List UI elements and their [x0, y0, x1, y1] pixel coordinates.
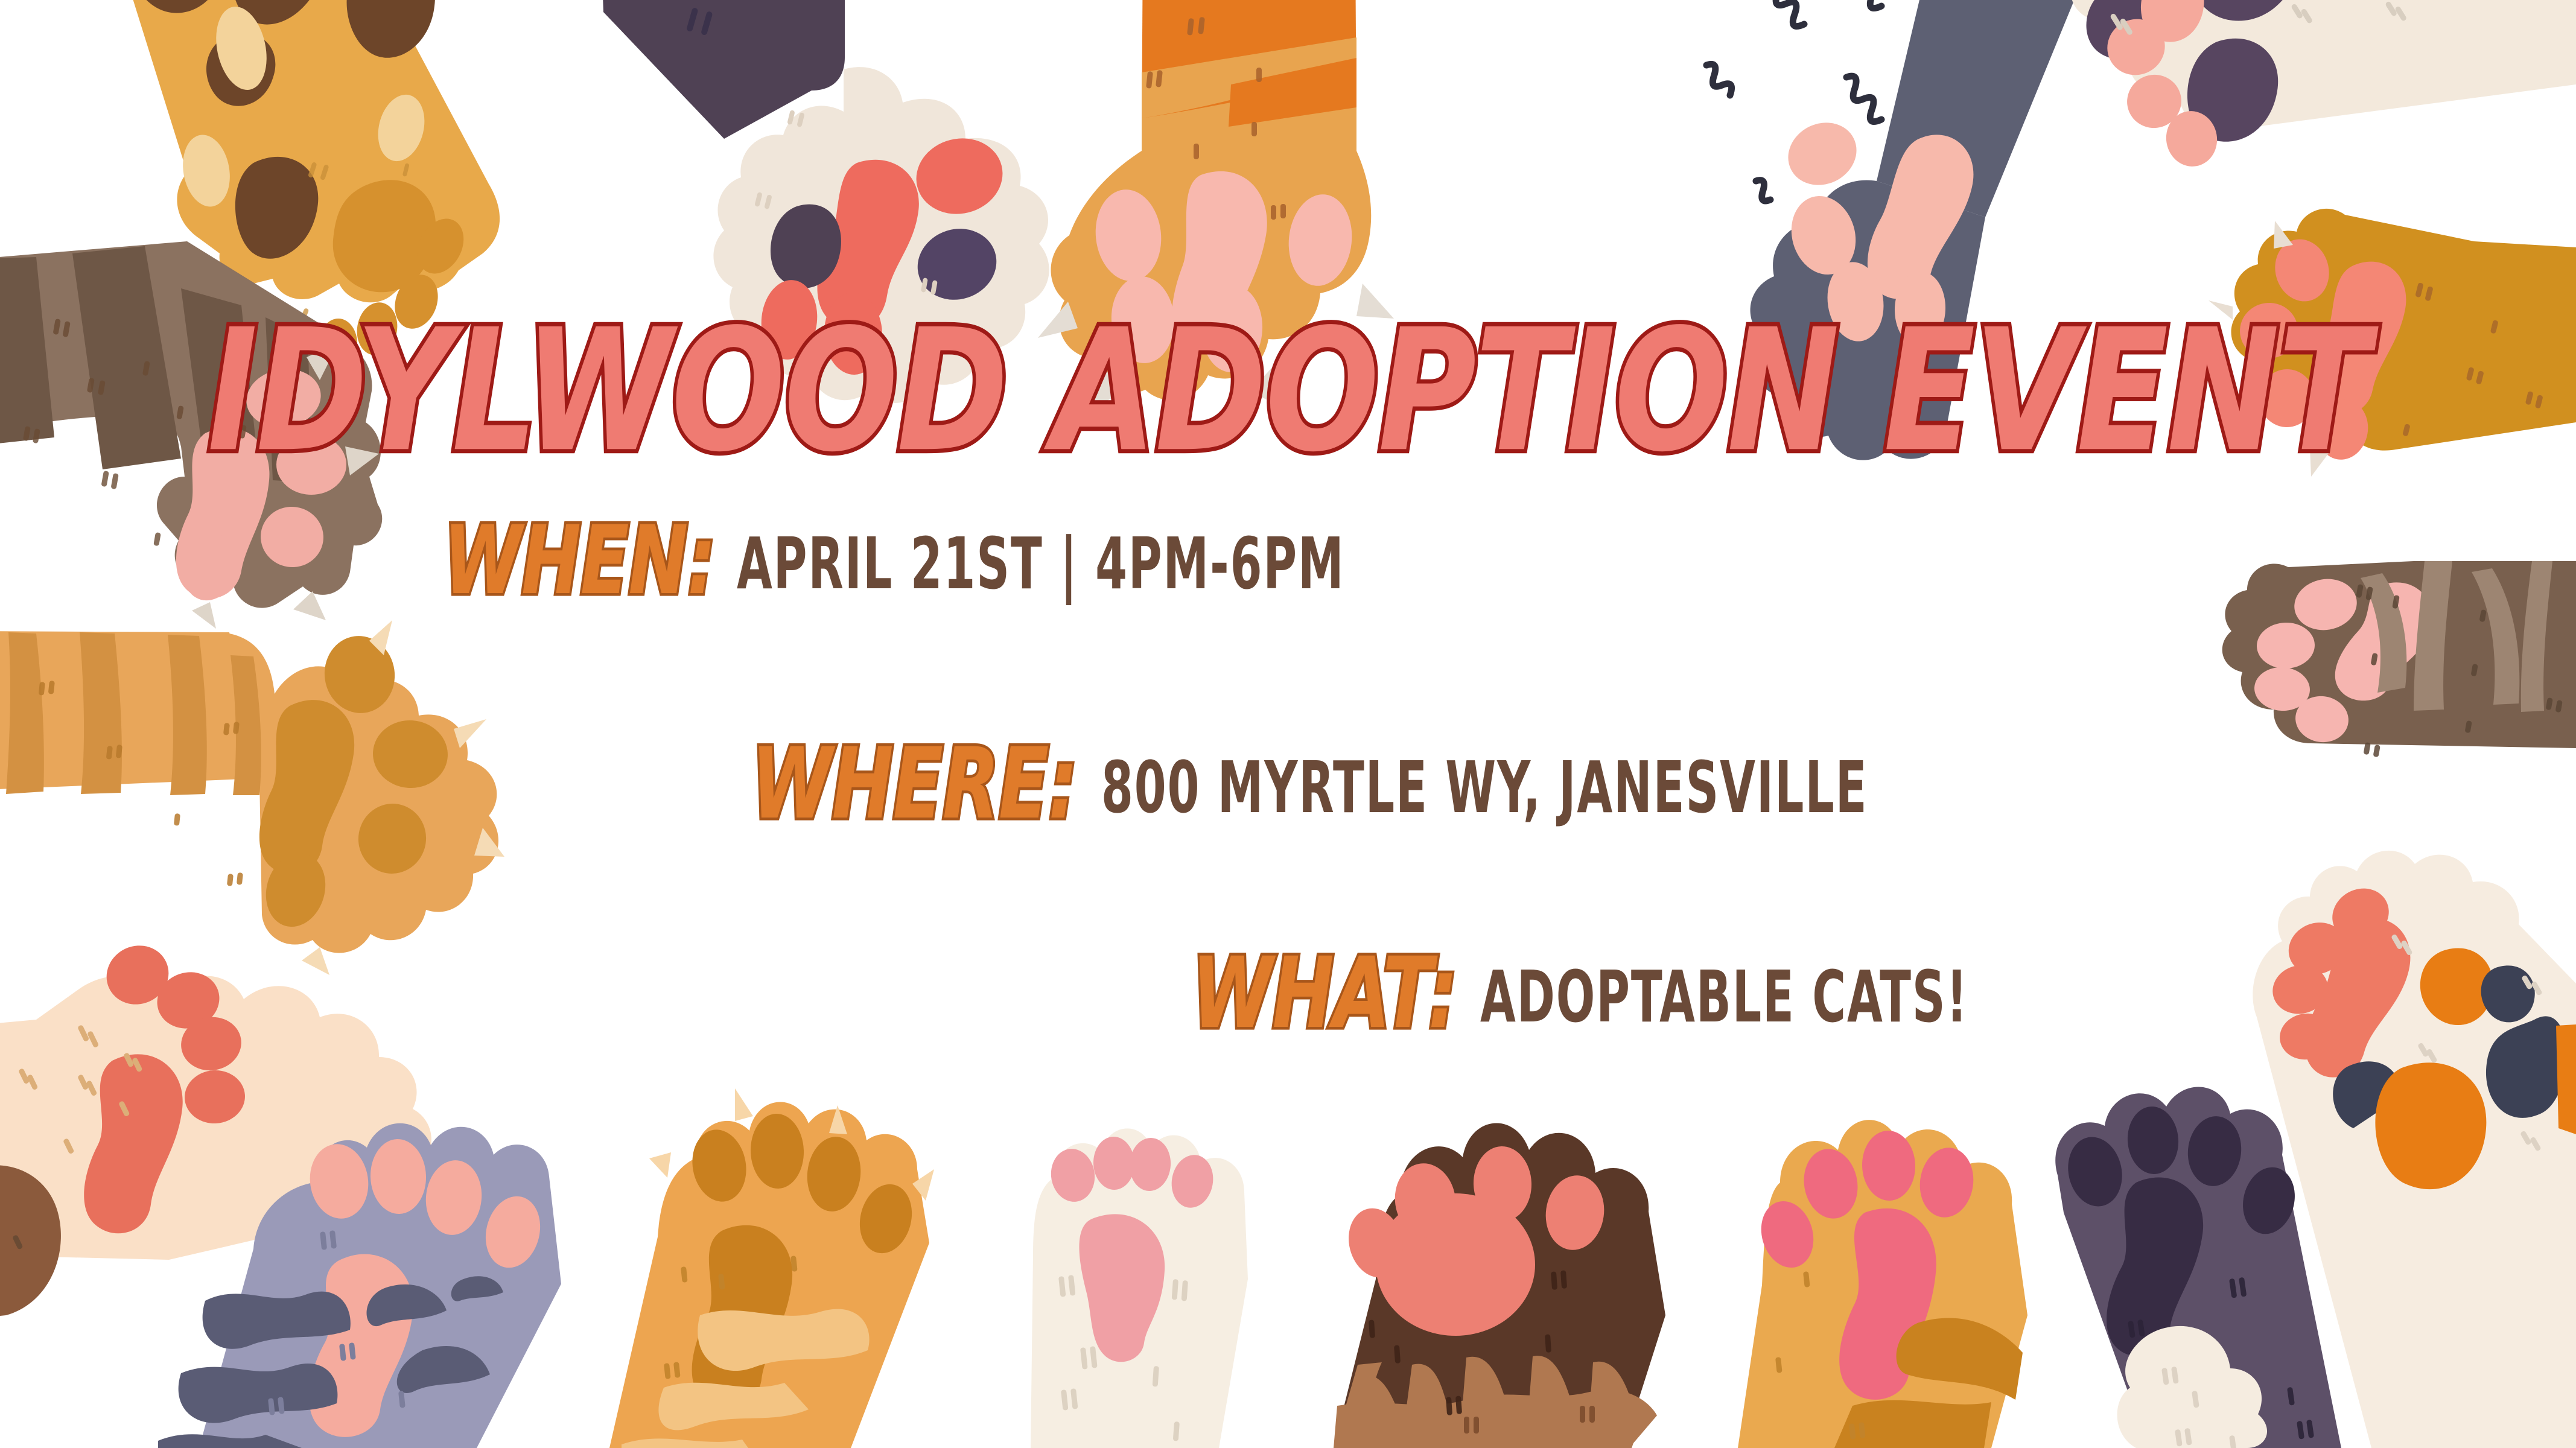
detail-row-what: WHAT: ADOPTABLE CATS!: [1192, 944, 1989, 1018]
paw-cream-white-icon: [1031, 1128, 1248, 1448]
paw-brown-pink-icon: [2222, 561, 2576, 757]
paw-orange-pink-icon: [1738, 1120, 2027, 1448]
page-title: IDYLWOOD ADOPTION EVENT: [0, 308, 2576, 476]
paw-dark-brown-icon: [1334, 1123, 1665, 1448]
detail-label-where: WHERE:: [751, 735, 1077, 833]
paw-orange-tabby-up-icon: [609, 1088, 934, 1448]
paw-cream-calico-purple-icon: [2071, 0, 2576, 171]
detail-label-what: WHAT:: [1192, 944, 1457, 1042]
paw-orange-tabby-left-icon: [0, 620, 504, 975]
detail-value-what: ADOPTABLE CATS!: [1480, 962, 1968, 1033]
detail-value-when: APRIL 21ST | 4PM-6PM: [737, 529, 1345, 600]
detail-row-when: WHEN: APRIL 21ST | 4PM-6PM: [444, 513, 1370, 584]
detail-label-when: WHEN:: [444, 513, 715, 608]
paw-illustration-layer: [0, 0, 2576, 1448]
detail-value-where: 800 MYRTLE WY, JANESVILLE: [1101, 752, 1868, 824]
poster-canvas: IDYLWOOD ADOPTION EVENT WHEN: APRIL 21ST…: [0, 0, 2576, 1448]
detail-row-where: WHERE: 800 MYRTLE WY, JANESVILLE: [751, 735, 1900, 808]
